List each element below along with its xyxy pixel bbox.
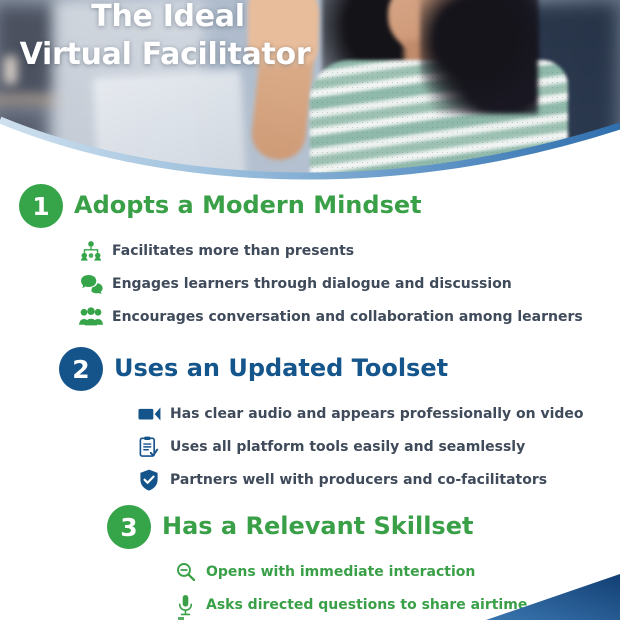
list-item: Has clear audio and appears professional… [136, 397, 620, 430]
list-item: Engages learners through dialogue and di… [78, 267, 620, 300]
hero-banner: The Ideal Virtual Facilitator [0, 0, 620, 200]
person-hair-front [420, 0, 538, 114]
section-2-title: Uses an Updated Toolset [114, 353, 448, 383]
microphone-icon [172, 593, 198, 617]
list-item-label: Encourages conversation and collaboratio… [112, 308, 583, 326]
section-adopts-a-modern-mindset: 1 Adopts a Modern Mindset Facilitates [0, 184, 620, 333]
list-item-label: Facilitates more than presents [112, 242, 354, 260]
section-2-header: 2 Uses an Updated Toolset [0, 347, 620, 393]
list-item: Facilitates more than presents [78, 234, 620, 267]
section-1-number-badge: 1 [19, 184, 63, 228]
hero-title-line-1: The Ideal [6, 0, 330, 36]
section-2-number-badge: 2 [59, 347, 103, 391]
list-item: Asks directed questions to share airtime [172, 588, 620, 620]
hero-title-line-2: Virtual Facilitator [0, 36, 330, 74]
shield-check-icon [136, 468, 162, 492]
background-laptop [93, 70, 248, 200]
infographic-page: The Ideal Virtual Facilitator 1 Adopts a… [0, 0, 620, 620]
list-item-label: Has clear audio and appears professional… [170, 405, 584, 423]
section-3-title: Has a Relevant Skillset [162, 511, 473, 541]
video-camera-icon [136, 402, 162, 426]
section-1-title: Adopts a Modern Mindset [74, 190, 422, 220]
section-2-bullet-list: Has clear audio and appears professional… [0, 397, 620, 496]
section-1-header: 1 Adopts a Modern Mindset [0, 184, 620, 230]
section-3-header: 3 Has a Relevant Skillset [0, 505, 620, 551]
section-uses-an-updated-toolset: 2 Uses an Updated Toolset Has clear audi… [0, 347, 620, 496]
list-item-label: Asks directed questions to share airtime [206, 596, 527, 614]
list-item-label: Opens with immediate interaction [206, 563, 475, 581]
section-has-a-relevant-skillset: 3 Has a Relevant Skillset Opens with imm… [0, 505, 620, 620]
people-network-icon [78, 239, 104, 263]
clipboard-check-icon [136, 435, 162, 459]
list-item: Uses all platform tools easily and seaml… [136, 430, 620, 463]
list-item-label: Partners well with producers and co-faci… [170, 471, 547, 489]
magnifier-icon [172, 560, 198, 584]
hero-title: The Ideal Virtual Facilitator [0, 0, 330, 74]
list-item: Opens with immediate interaction [172, 555, 620, 588]
section-3-bullet-list: Opens with immediate interaction Asks di… [0, 555, 620, 620]
list-item: Encourages conversation and collaboratio… [78, 300, 620, 333]
section-1-bullet-list: Facilitates more than presents Engages l… [0, 234, 620, 333]
user-group-icon [78, 305, 104, 329]
list-item-label: Engages learners through dialogue and di… [112, 275, 512, 293]
person-photo [300, 0, 568, 200]
list-item-label: Uses all platform tools easily and seaml… [170, 438, 525, 456]
list-item: Partners well with producers and co-faci… [136, 463, 620, 496]
section-3-number-badge: 3 [107, 505, 151, 549]
speech-bubbles-icon [78, 272, 104, 296]
